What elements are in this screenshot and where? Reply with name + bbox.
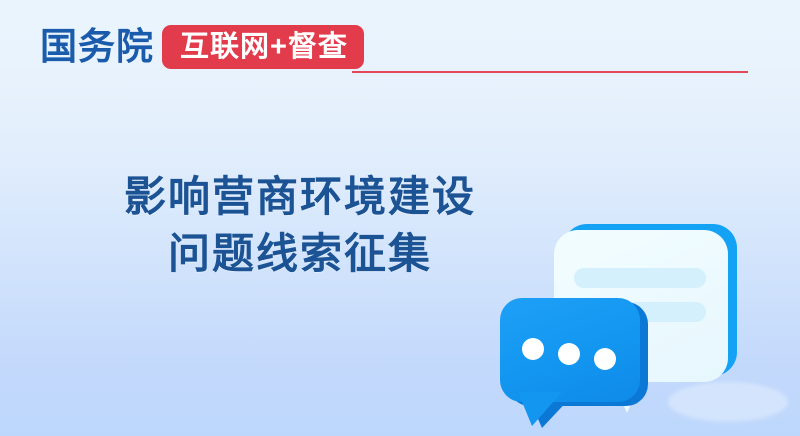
bubble-text-line-1 — [574, 268, 706, 288]
gov-council-logo: 国务院 — [40, 26, 154, 68]
campaign-badge: 互联网+督查 — [162, 25, 364, 69]
ellipsis-dot-2 — [558, 343, 580, 365]
ellipsis-dot-3 — [594, 348, 616, 370]
header-divider-rule — [352, 71, 748, 73]
campaign-banner: 国务院 互联网+督查 影响营商环境建设 问题线索征集 — [0, 0, 800, 436]
ellipsis-dot-1 — [522, 338, 544, 360]
speech-bubbles-illustration — [480, 206, 800, 436]
small-speech-bubble-tail — [518, 392, 562, 426]
banner-header: 国务院 互联网+督查 — [0, 0, 800, 92]
ground-glow — [668, 382, 788, 422]
